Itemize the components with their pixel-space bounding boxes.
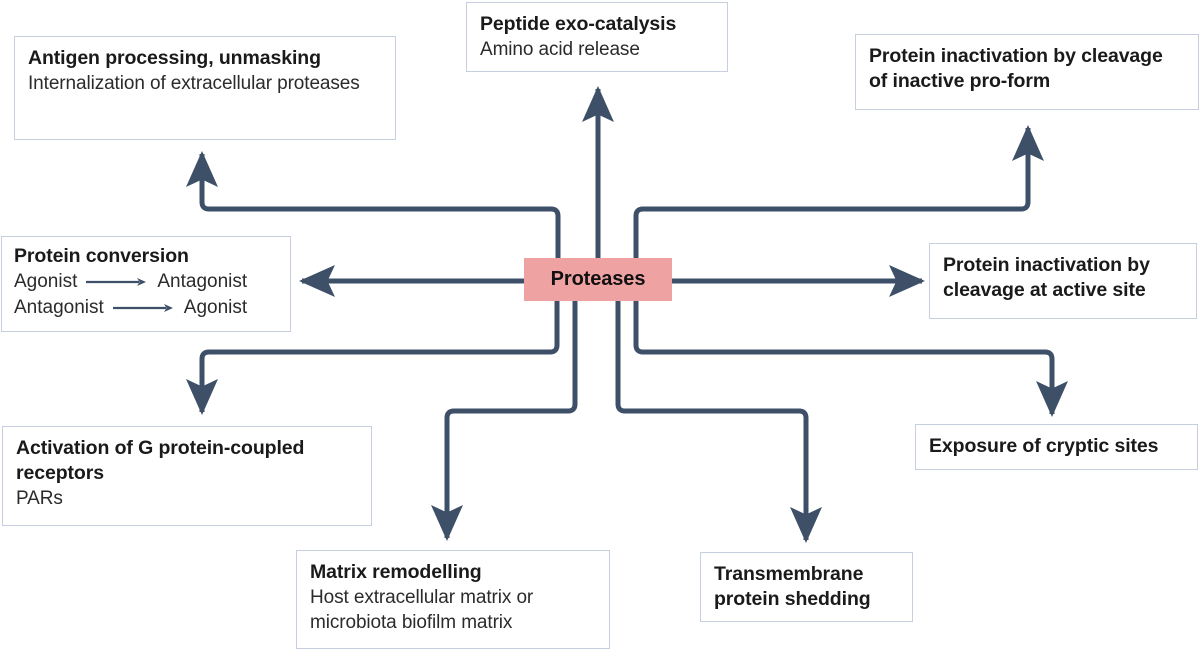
- conversion-arrow-icon: [113, 302, 175, 314]
- node-title: Protein conversion: [14, 244, 278, 269]
- node-protein-inactivation-pro-form[interactable]: Protein inactivation by cleavage of inac…: [855, 34, 1199, 110]
- conversion-to: Agonist: [184, 295, 247, 321]
- conversion-to: Antagonist: [157, 269, 247, 295]
- node-title: Transmembrane protein shedding: [714, 562, 899, 612]
- node-matrix-remodelling[interactable]: Matrix remodelling Host extracellular ma…: [296, 550, 610, 649]
- node-subtitle: Internalization of extracellular proteas…: [28, 71, 382, 96]
- node-transmembrane-shedding[interactable]: Transmembrane protein shedding: [700, 552, 913, 622]
- node-antigen-processing[interactable]: Antigen processing, unmasking Internaliz…: [14, 36, 396, 140]
- node-title: Matrix remodelling: [310, 560, 596, 585]
- node-peptide-exo-catalysis[interactable]: Peptide exo-catalysis Amino acid release: [466, 2, 728, 72]
- node-title: Activation of G protein-coupled receptor…: [16, 436, 358, 486]
- node-subtitle: Host extracellular matrix or microbiota …: [310, 585, 596, 635]
- conversion-from: Antagonist: [14, 295, 104, 321]
- node-protein-inactivation-active-site[interactable]: Protein inactivation by cleavage at acti…: [929, 243, 1197, 319]
- node-subtitle: PARs: [16, 486, 358, 511]
- node-title: Exposure of cryptic sites: [929, 434, 1184, 459]
- conversion-from: Agonist: [14, 269, 77, 295]
- node-gpcr-activation[interactable]: Activation of G protein-coupled receptor…: [2, 426, 372, 526]
- node-subtitle: Amino acid release: [480, 37, 714, 62]
- node-proteases-center[interactable]: Proteases: [524, 258, 672, 301]
- conversion-row: Agonist Antagonist: [14, 269, 278, 295]
- edge-to-protein-inactivation-pro-form: [636, 128, 1028, 258]
- center-label: Proteases: [551, 268, 646, 291]
- node-title: Antigen processing, unmasking: [28, 46, 382, 71]
- node-protein-conversion[interactable]: Protein conversion Agonist Antagonist An…: [1, 236, 291, 332]
- edge-to-matrix-remodelling: [447, 300, 575, 538]
- conversion-row: Antagonist Agonist: [14, 295, 278, 321]
- node-title: Peptide exo-catalysis: [480, 12, 714, 37]
- node-exposure-cryptic-sites[interactable]: Exposure of cryptic sites: [915, 424, 1198, 470]
- node-title: Protein inactivation by cleavage at acti…: [943, 253, 1183, 303]
- conversion-arrow-icon: [86, 276, 148, 288]
- edge-to-transmembrane-shedding: [618, 300, 806, 540]
- node-title: Protein inactivation by cleavage of inac…: [869, 44, 1185, 94]
- protease-function-diagram: Antigen processing, unmasking Internaliz…: [0, 0, 1200, 651]
